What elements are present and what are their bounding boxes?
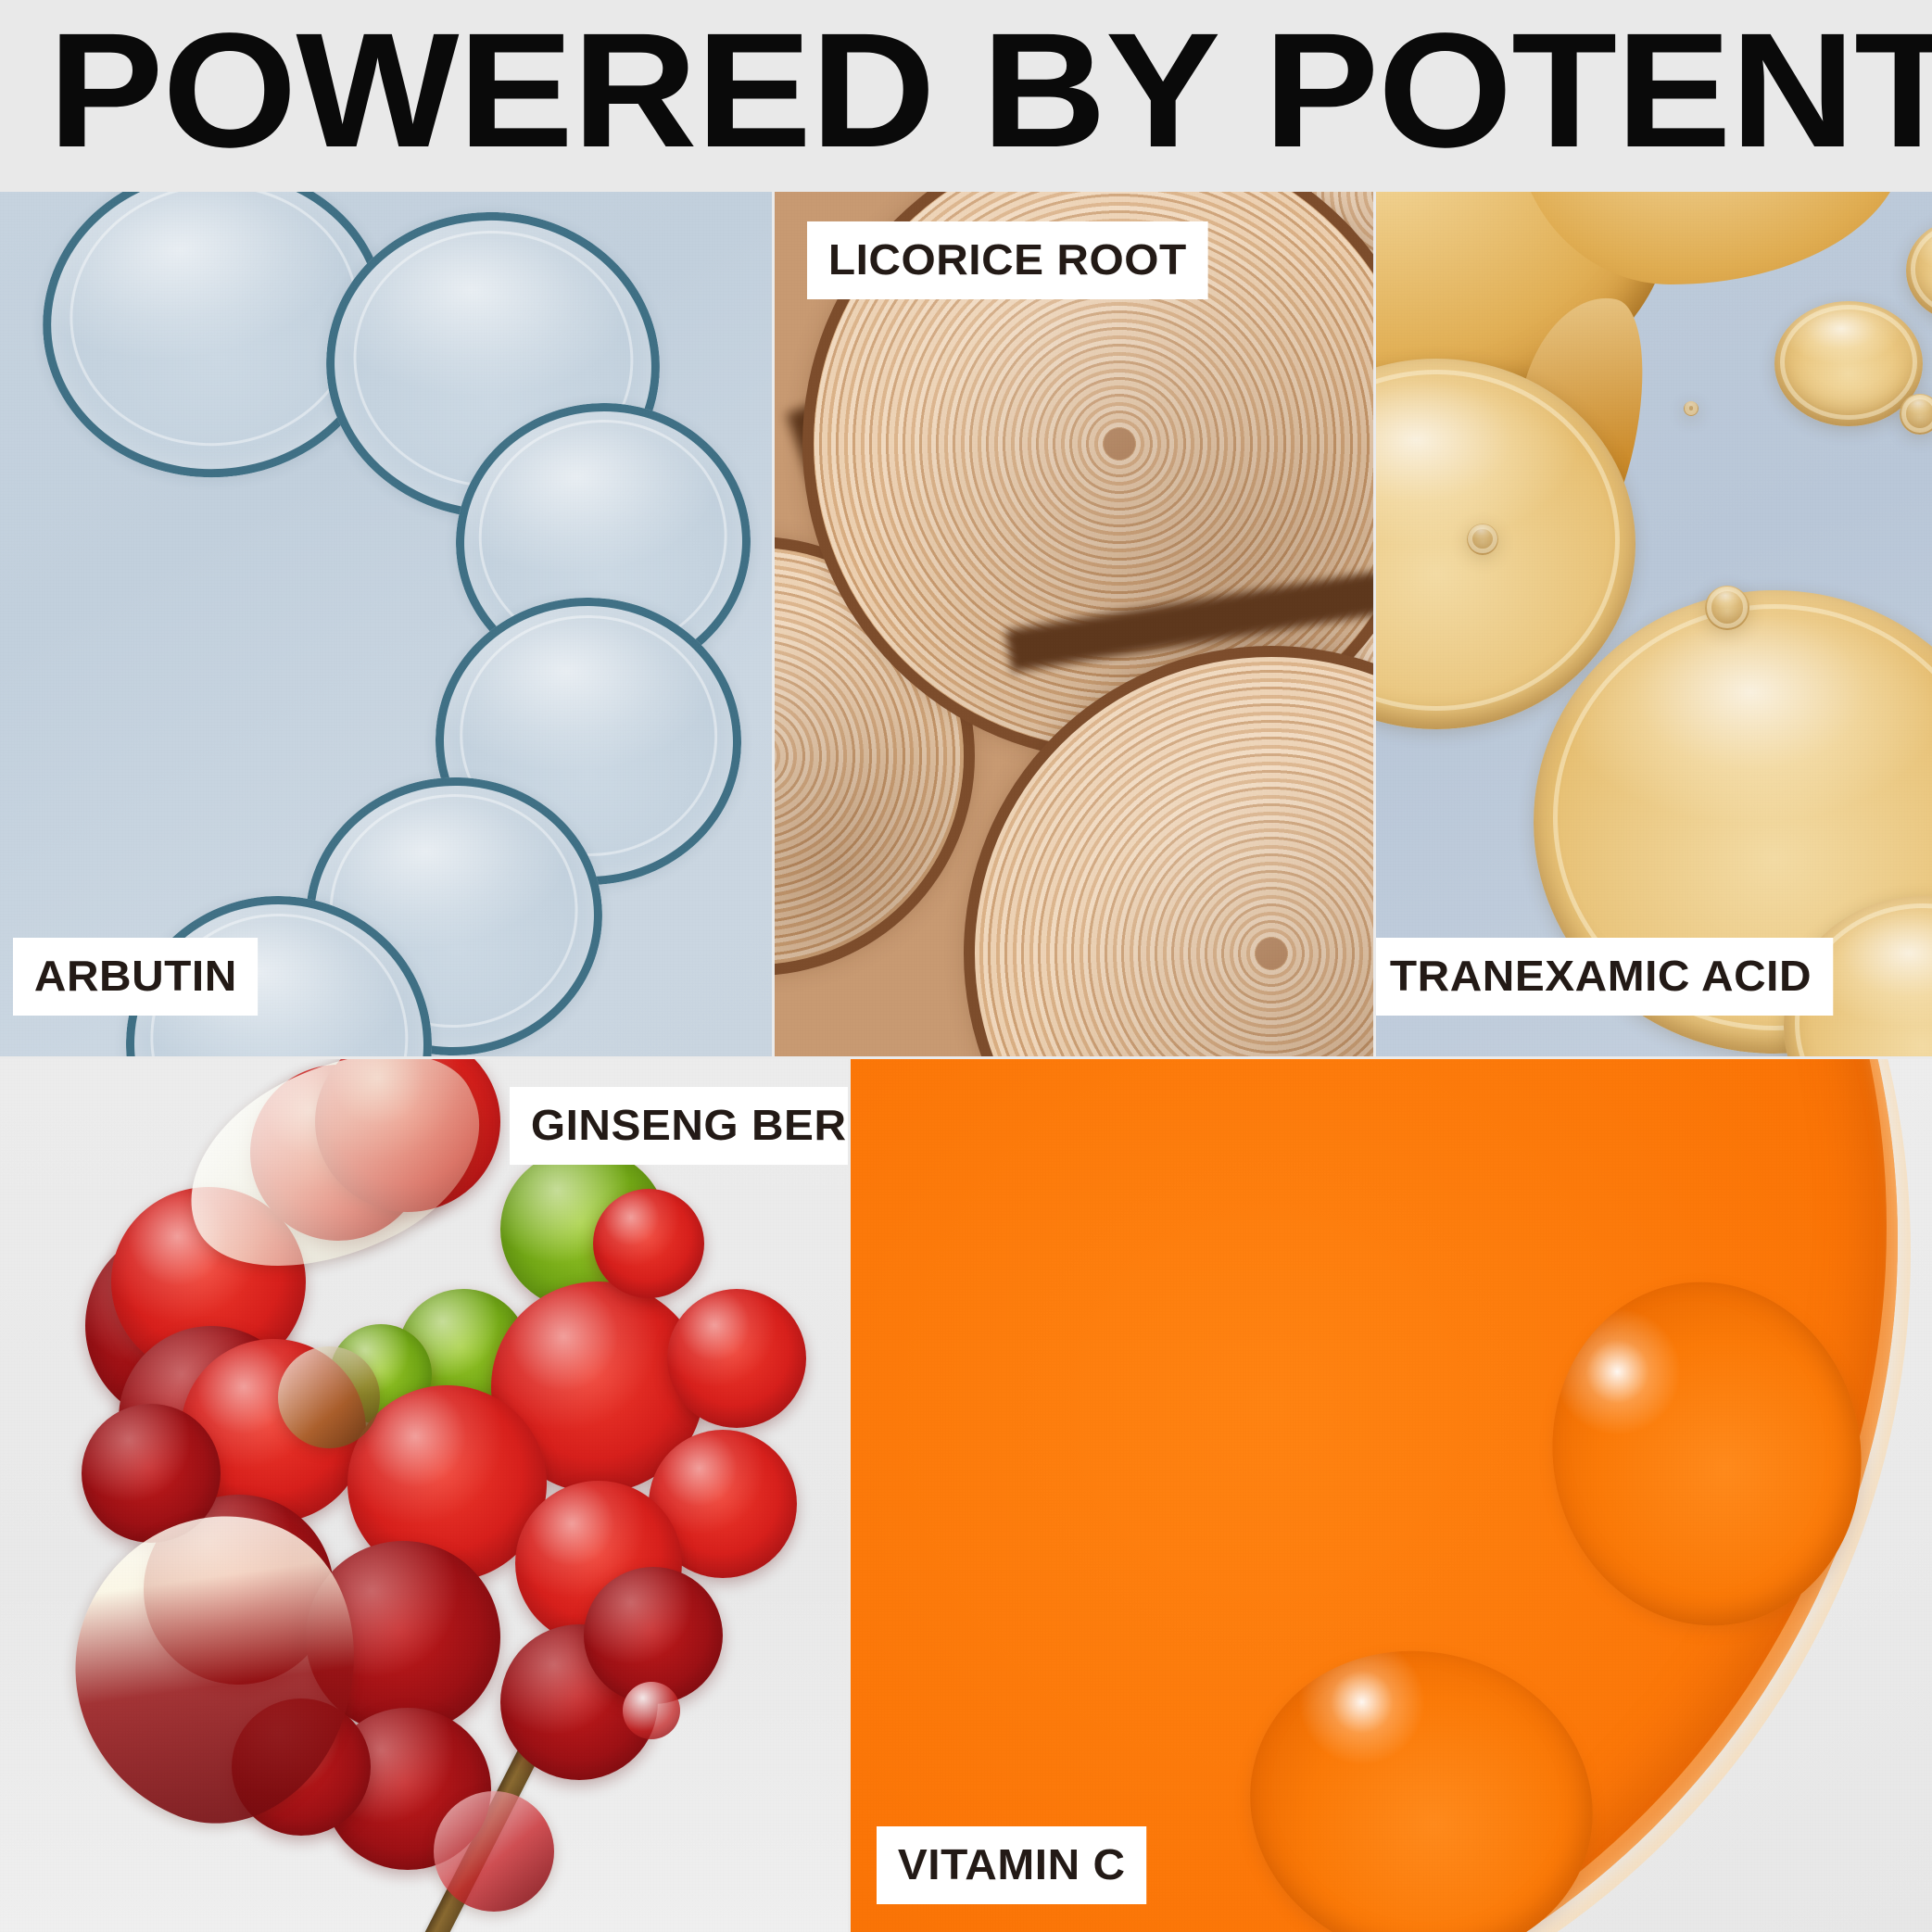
berry-droplet (623, 1682, 680, 1739)
label-tranexamic-acid: TRANEXAMIC ACID (1376, 938, 1833, 1016)
panel-tranexamic-acid[interactable]: TRANEXAMIC ACID (1376, 192, 1932, 1056)
page-title: POWERED BY POTENT ACTIVES (48, 9, 1932, 172)
label-arbutin: ARBUTIN (13, 938, 259, 1016)
berry-gloss-small (434, 1791, 554, 1912)
ingredient-grid: ARBUTIN LICORICE ROOT (0, 192, 1932, 1932)
oil-droplet-7 (1467, 524, 1498, 555)
panel-arbutin[interactable]: ARBUTIN (0, 192, 772, 1056)
panel-vitamin-c[interactable]: VITAMIN C (851, 1059, 1932, 1932)
label-vitamin-c: VITAMIN C (877, 1826, 1146, 1904)
label-licorice-root: LICORICE ROOT (807, 221, 1208, 299)
header-banner: POWERED BY POTENT ACTIVES (0, 0, 1932, 192)
wood-ring-core-1 (1104, 428, 1135, 460)
panel-licorice-root[interactable]: LICORICE ROOT (775, 192, 1373, 1056)
berry-gloss-mid (278, 1346, 380, 1448)
poster-canvas: POWERED BY POTENT ACTIVES ARBUTIN L (0, 0, 1932, 1932)
label-ginseng-berry: GINSENG BERRY (510, 1087, 848, 1165)
panel-ginseng-berry[interactable]: GINSENG BERRY (0, 1059, 848, 1932)
berry-18 (593, 1189, 704, 1298)
oil-droplet-8 (1684, 401, 1698, 416)
wood-ring-core-3 (1256, 938, 1287, 969)
oil-droplet-5 (1705, 586, 1749, 630)
berry-8 (667, 1289, 806, 1428)
